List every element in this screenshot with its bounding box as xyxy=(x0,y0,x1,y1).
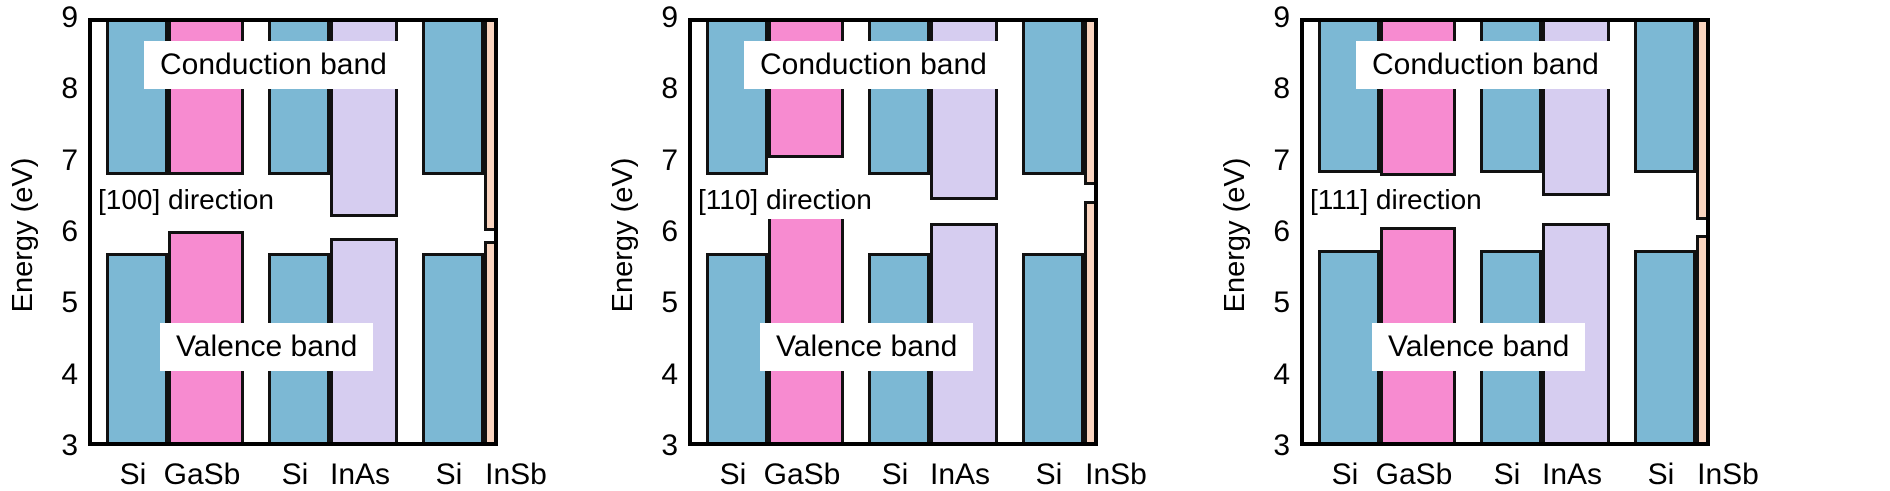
y-tick-label-7: 7 xyxy=(1254,146,1290,176)
y-tick-label-4: 4 xyxy=(642,360,678,390)
band-bar-valence-si-4 xyxy=(422,253,484,446)
band-bar-valence-si-4 xyxy=(1022,253,1084,446)
band-bar-valence-si-0 xyxy=(706,253,768,446)
band-bar-valence-insb-5 xyxy=(484,241,498,446)
valence-band-label: Valence band xyxy=(160,323,373,371)
valence-band-label: Valence band xyxy=(760,323,973,371)
band-bar-conduction-si-4 xyxy=(1634,18,1696,173)
y-tick-label-7: 7 xyxy=(42,146,78,176)
band-bar-valence-si-4 xyxy=(1634,250,1696,446)
panel-3: Energy (eV)9876543Conduction bandValence… xyxy=(1212,0,1800,490)
y-axis-label: Energy (eV) xyxy=(1218,0,1252,470)
y-tick-label-9: 9 xyxy=(42,3,78,33)
conduction-band-label: Conduction band xyxy=(1356,41,1615,89)
direction-label: [110] direction xyxy=(692,181,878,219)
y-tick-label-6: 6 xyxy=(1254,217,1290,247)
y-tick-label-6: 6 xyxy=(42,217,78,247)
conduction-band-label: Conduction band xyxy=(744,41,1003,89)
y-tick-label-8: 8 xyxy=(642,74,678,104)
y-tick-label-4: 4 xyxy=(1254,360,1290,390)
x-tick-label-insb-5: InSb xyxy=(1682,460,1774,490)
x-tick-label-insb-5: InSb xyxy=(470,460,562,490)
y-tick-label-5: 5 xyxy=(642,288,678,318)
band-bar-conduction-insb-5 xyxy=(484,18,498,231)
y-tick-label-9: 9 xyxy=(1254,3,1290,33)
y-tick-label-8: 8 xyxy=(42,74,78,104)
direction-label: [111] direction xyxy=(1304,181,1488,219)
x-tick-label-inas-3: InAs xyxy=(916,460,1004,490)
conduction-band-label: Conduction band xyxy=(144,41,403,89)
band-bar-conduction-insb-5 xyxy=(1696,18,1710,220)
band-bar-valence-insb-5 xyxy=(1696,235,1710,446)
direction-label: [100] direction xyxy=(92,181,280,219)
y-tick-label-3: 3 xyxy=(42,431,78,461)
y-tick-label-6: 6 xyxy=(642,217,678,247)
y-tick-label-5: 5 xyxy=(1254,288,1290,318)
y-axis-label: Energy (eV) xyxy=(606,0,640,470)
y-axis-label: Energy (eV) xyxy=(6,0,40,470)
y-tick-label-8: 8 xyxy=(1254,74,1290,104)
x-tick-label-gasb-1: GaSb xyxy=(154,460,250,490)
band-bar-conduction-si-4 xyxy=(422,18,484,175)
panel-2: Energy (eV)9876543Conduction bandValence… xyxy=(600,0,1188,490)
y-tick-label-7: 7 xyxy=(642,146,678,176)
band-bar-valence-insb-5 xyxy=(1084,201,1098,446)
x-tick-label-inas-3: InAs xyxy=(316,460,404,490)
y-tick-label-9: 9 xyxy=(642,3,678,33)
y-tick-label-3: 3 xyxy=(642,431,678,461)
band-bar-valence-si-0 xyxy=(1318,250,1380,446)
valence-band-label: Valence band xyxy=(1372,323,1585,371)
band-bar-conduction-insb-5 xyxy=(1084,18,1098,185)
y-tick-label-5: 5 xyxy=(42,288,78,318)
x-tick-label-gasb-1: GaSb xyxy=(1366,460,1462,490)
band-bar-conduction-si-4 xyxy=(1022,18,1084,175)
x-tick-label-insb-5: InSb xyxy=(1070,460,1162,490)
band-bar-valence-si-0 xyxy=(106,253,168,446)
y-tick-label-3: 3 xyxy=(1254,431,1290,461)
x-tick-label-inas-3: InAs xyxy=(1528,460,1616,490)
band-alignment-figure: Energy (eV)9876543Conduction bandValence… xyxy=(0,0,1890,490)
y-tick-label-4: 4 xyxy=(42,360,78,390)
panel-1: Energy (eV)9876543Conduction bandValence… xyxy=(0,0,588,490)
x-tick-label-gasb-1: GaSb xyxy=(754,460,850,490)
